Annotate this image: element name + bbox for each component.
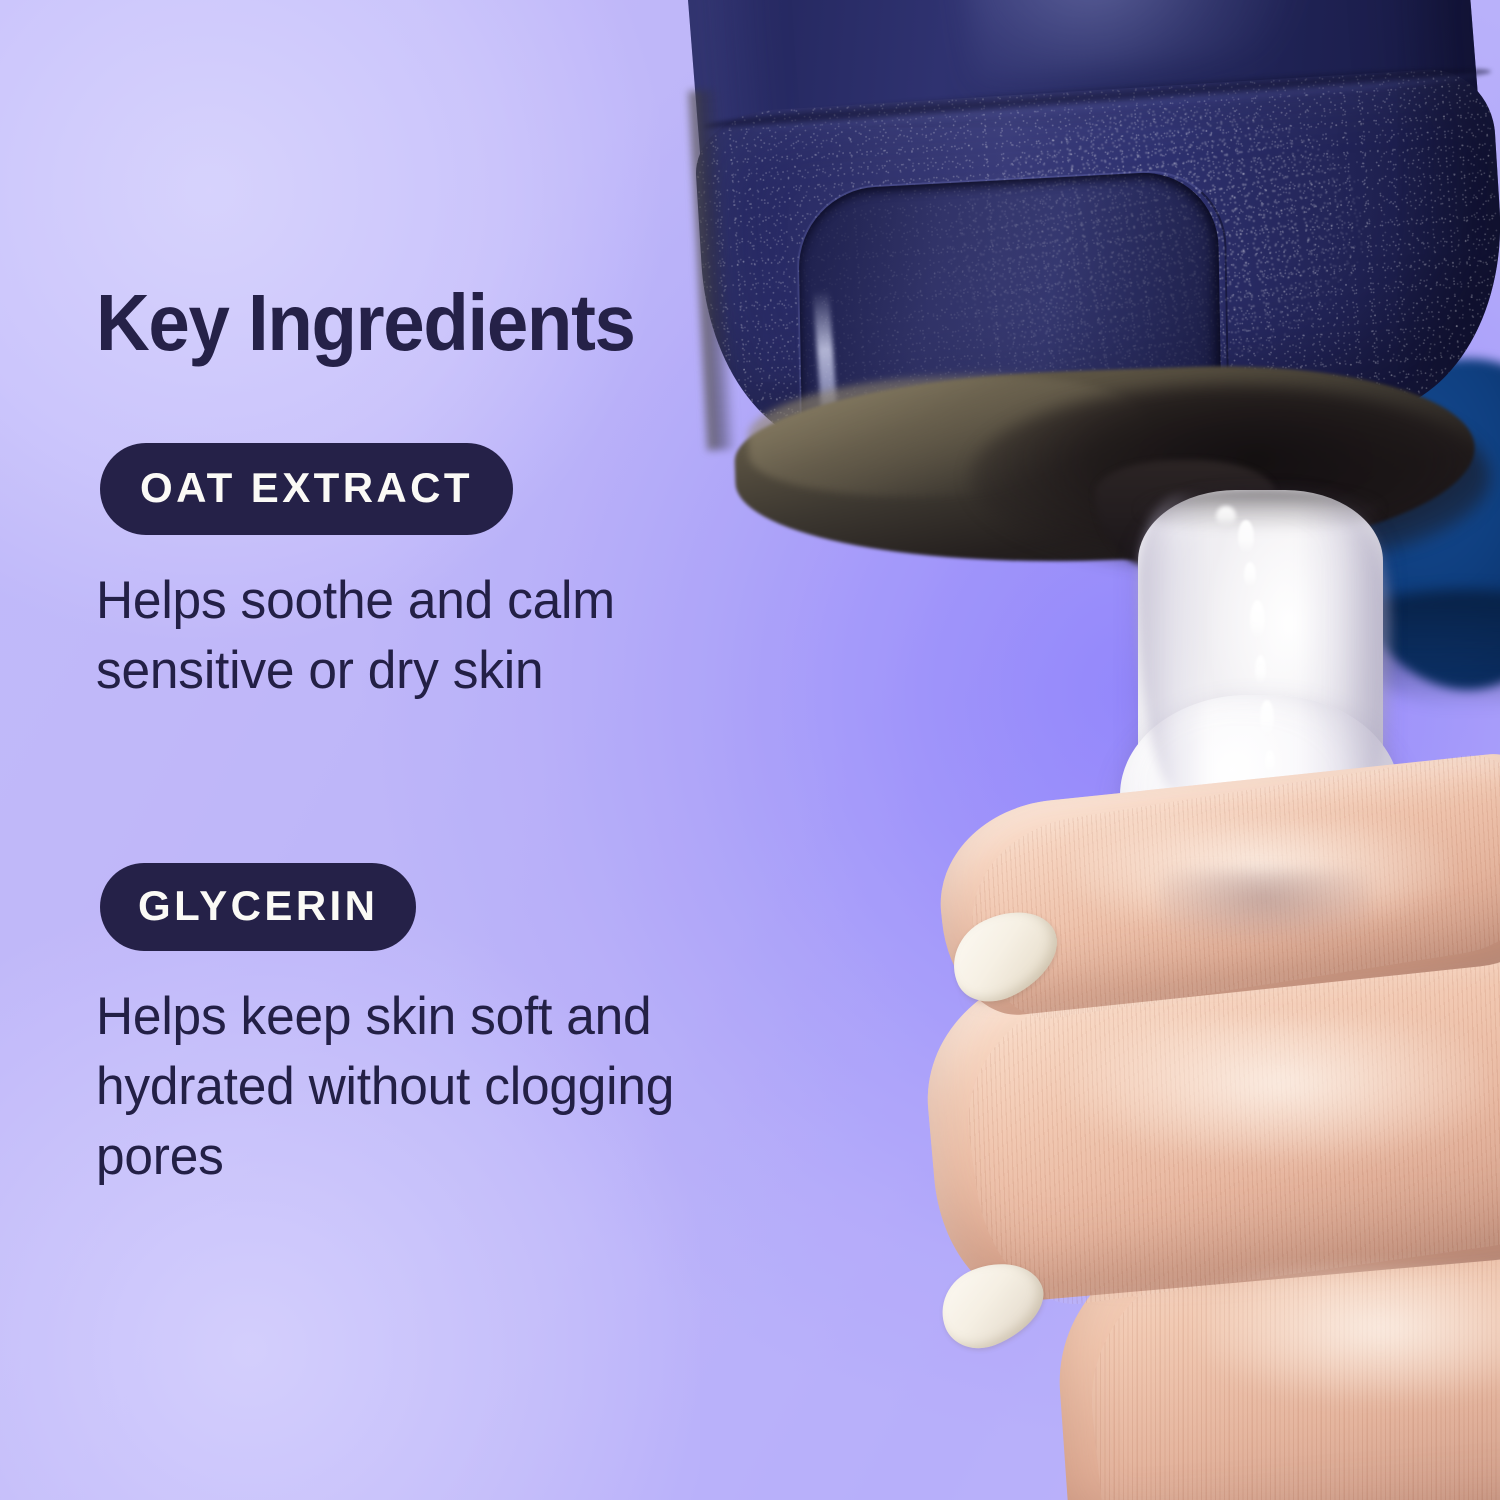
gel-highlight	[1260, 700, 1274, 736]
finger-sheen	[1200, 1270, 1500, 1400]
ingredient-badge-glycerin: GLYCERIN	[100, 863, 416, 951]
gel-contact-shadow	[1160, 870, 1370, 940]
gel-highlight	[1238, 520, 1254, 554]
ingredient-description-glycerin: Helps keep skin soft and hydrated withou…	[96, 982, 756, 1192]
page-title: Key Ingredients	[96, 283, 635, 363]
finger-sheen	[1070, 1020, 1490, 1160]
gel-highlight	[1244, 562, 1256, 588]
key-ingredients-infographic: Key Ingredients OAT EXTRACT Helps soothe…	[0, 0, 1500, 1500]
product-photo	[640, 0, 1500, 1500]
gel-highlight	[1265, 750, 1275, 774]
gel-highlight	[1255, 655, 1266, 685]
gel-top-shadow	[1140, 488, 1380, 532]
gel-highlight	[1216, 506, 1236, 526]
gel-highlight	[1250, 600, 1265, 640]
ingredient-description-oat-extract: Helps soothe and calm sensitive or dry s…	[96, 566, 697, 706]
ingredient-badge-oat-extract: OAT EXTRACT	[100, 443, 513, 535]
